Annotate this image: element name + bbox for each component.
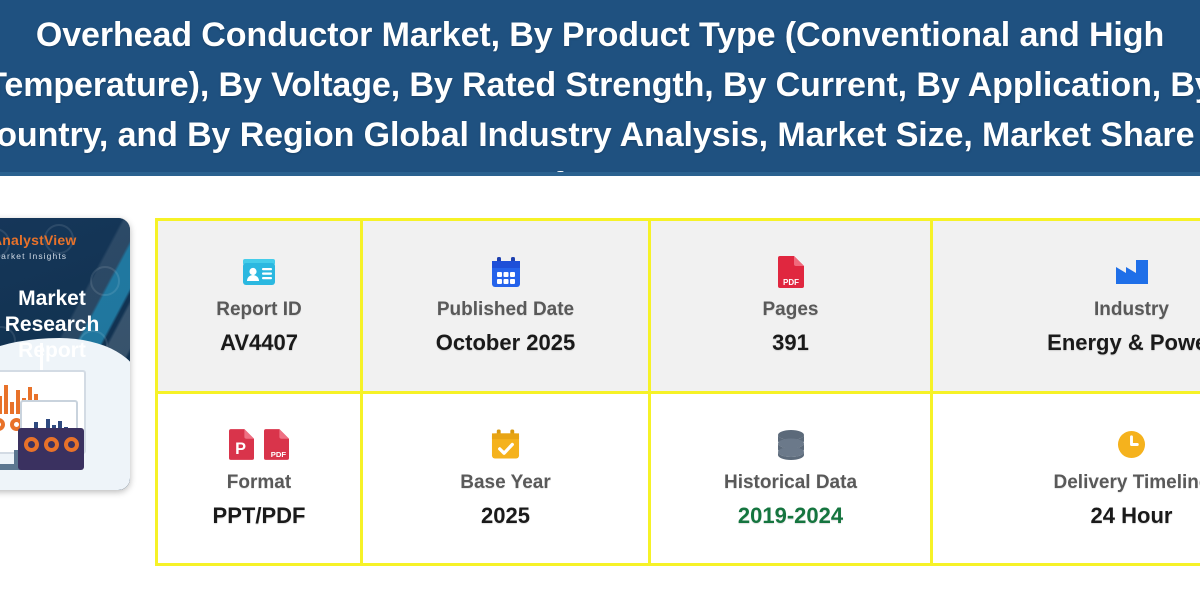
table-row: Report ID AV4407 <box>157 220 1200 393</box>
meta-value: 391 <box>655 327 926 359</box>
meta-label: Base Year <box>367 470 644 496</box>
calendar-icon <box>367 252 644 292</box>
cover-chartcard-graphic <box>18 428 84 470</box>
id-card-icon <box>162 252 356 292</box>
meta-label: Pages <box>655 297 926 323</box>
meta-label: Report ID <box>162 297 356 323</box>
report-header-banner: Overhead Conductor Market, By Product Ty… <box>0 0 1200 176</box>
meta-label: Industry <box>937 297 1200 323</box>
banner-inner: Overhead Conductor Market, By Product Ty… <box>0 10 1200 176</box>
cover-heading: Market Research Report <box>0 286 130 364</box>
meta-label: Published Date <box>367 297 644 323</box>
ppt-pdf-icon: P PDF <box>162 425 356 465</box>
calendar-check-icon <box>367 425 644 465</box>
meta-value: 2019-2024 <box>655 500 926 532</box>
report-meta-table: Report ID AV4407 <box>155 218 1200 566</box>
meta-label: Historical Data <box>655 470 926 496</box>
logo-tagline: Market Insights <box>0 251 130 261</box>
factory-icon <box>937 252 1200 292</box>
meta-label: Format <box>162 470 356 496</box>
report-cover-thumbnail[interactable]: AnalystView Market Insights Market Resea… <box>0 218 130 490</box>
meta-cell-industry: Industry Energy & Power <box>932 220 1200 393</box>
meta-cell-base-year: Base Year 2025 <box>362 392 650 565</box>
svg-text:PDF: PDF <box>271 450 287 459</box>
meta-cell-format: P PDF Format PPT/PDF <box>157 392 362 565</box>
header-underline <box>0 172 1200 176</box>
meta-cell-historical-data: Historical Data 2019-2024 <box>650 392 932 565</box>
svg-text:P: P <box>235 440 246 458</box>
table-row: P PDF Format PPT/PDF <box>157 392 1200 565</box>
meta-value: 24 Hour <box>937 500 1200 532</box>
logo-name: AnalystView <box>0 232 76 248</box>
meta-value: AV4407 <box>162 327 356 359</box>
pdf-file-icon: PDF <box>264 425 289 465</box>
analystview-logo: AnalystView Market Insights <box>0 232 130 261</box>
database-icon <box>655 425 926 465</box>
meta-value: 2025 <box>367 500 644 532</box>
meta-value: PPT/PDF <box>162 500 356 532</box>
page-title: Overhead Conductor Market, By Product Ty… <box>0 10 1200 176</box>
clock-icon <box>937 425 1200 465</box>
ppt-file-icon: P <box>229 425 254 465</box>
meta-cell-delivery-timeline: Delivery Timeline 24 Hour <box>932 392 1200 565</box>
svg-text:PDF: PDF <box>783 278 799 287</box>
meta-value: Energy & Power <box>937 327 1200 359</box>
meta-cell-report-id: Report ID AV4407 <box>157 220 362 393</box>
meta-value: October 2025 <box>367 327 644 359</box>
meta-cell-published-date: Published Date October 2025 <box>362 220 650 393</box>
meta-cell-pages: PDF Pages 391 <box>650 220 932 393</box>
meta-label: Delivery Timeline <box>937 470 1200 496</box>
pdf-file-icon: PDF <box>655 252 926 292</box>
